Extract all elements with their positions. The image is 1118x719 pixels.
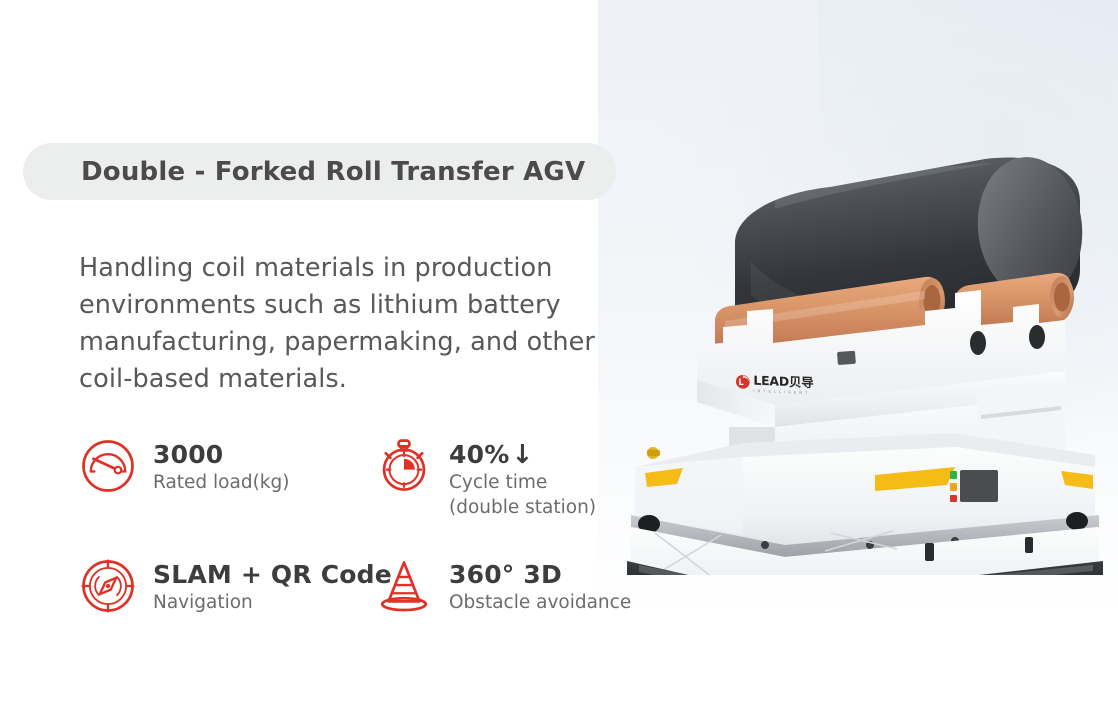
slide-root: LEAD贝导 I N T E L L I G E N T Double - Fo…	[0, 0, 1118, 719]
lead-logo-mark	[735, 373, 751, 389]
stopwatch-icon	[375, 437, 433, 495]
spec-label: Cycle time	[449, 472, 547, 493]
lead-logo-text: LEAD贝导 I N T E L L I G E N T	[753, 371, 813, 396]
description-paragraph: Handling coil materials in production en…	[79, 250, 649, 398]
down-arrow-icon: ↓	[511, 442, 533, 468]
gauge-icon	[79, 437, 137, 495]
spec-text: 3000 Rated load(kg)	[153, 437, 289, 495]
product-brand-logo: LEAD贝导 I N T E L L I G E N T	[735, 370, 813, 396]
spec-text: 360° 3D Obstacle avoidance	[449, 557, 631, 615]
traffic-cone-icon	[375, 557, 433, 615]
compass-icon	[79, 557, 137, 615]
spec-text: SLAM + QR Code Navigation	[153, 557, 392, 615]
spec-label: Rated load(kg)	[153, 472, 289, 493]
spec-item-cycle-time: 40%↓ Cycle time (double station)	[375, 437, 659, 520]
spec-item-rated-load: 3000 Rated load(kg)	[79, 437, 289, 495]
description-line-2: environments such as lithium battery	[79, 287, 649, 324]
description-line-4: coil-based materials.	[79, 361, 649, 398]
spec-value: 40%↓	[449, 440, 659, 470]
spec-item-obstacle-avoidance: 360° 3D Obstacle avoidance	[375, 557, 631, 615]
spec-value: 360° 3D	[449, 560, 631, 590]
spec-label: Obstacle avoidance	[449, 592, 631, 613]
page-title: Double - Forked Roll Transfer AGV	[23, 157, 585, 187]
description-line-1: Handling coil materials in production	[79, 250, 649, 287]
spec-text: 40%↓ Cycle time (double station)	[449, 437, 659, 520]
control-panel	[960, 470, 998, 502]
spec-value: 3000	[153, 440, 289, 470]
content-column: Double - Forked Roll Transfer AGV Handli…	[0, 0, 660, 719]
spec-value: SLAM + QR Code	[153, 560, 392, 590]
description-line-3: manufacturing, papermaking, and other	[79, 324, 649, 361]
spec-label-secondary: (double station)	[449, 497, 596, 518]
product-image	[625, 75, 1118, 575]
spec-label: Navigation	[153, 592, 253, 613]
spec-item-navigation: SLAM + QR Code Navigation	[79, 557, 392, 615]
title-pill: Double - Forked Roll Transfer AGV	[23, 143, 616, 200]
